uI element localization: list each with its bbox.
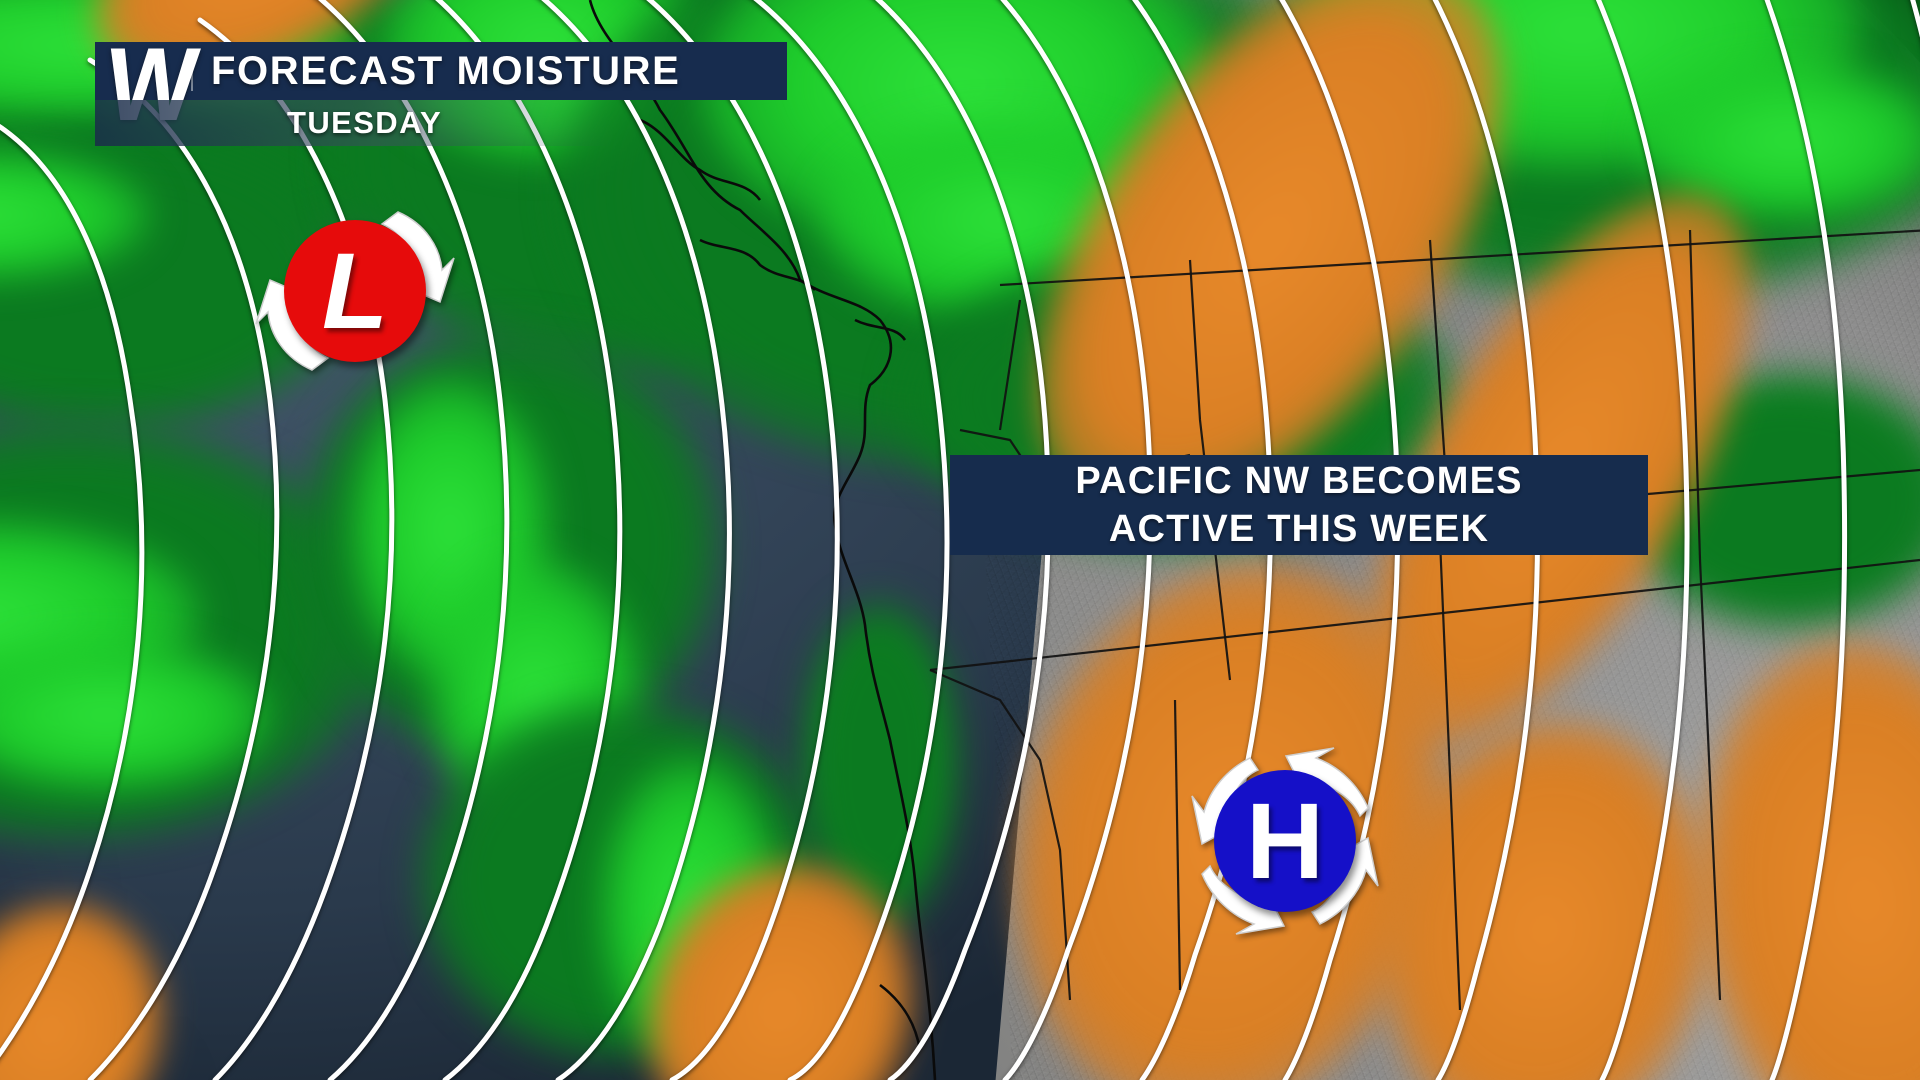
subtitle-bar: TUESDAY xyxy=(95,100,615,146)
high-pressure-glyph: H xyxy=(1246,787,1324,895)
headline-line-2: ACTIVE THIS WEEK xyxy=(1109,505,1489,553)
page-title: FORECAST MOISTURE xyxy=(211,49,680,94)
headline-line-1: PACIFIC NW BECOMES xyxy=(1075,457,1522,505)
low-pressure-glyph: L xyxy=(322,237,388,345)
low-pressure-center: L xyxy=(262,198,448,384)
forecast-day-label: TUESDAY xyxy=(287,105,442,141)
logo-slot: W xyxy=(95,42,191,100)
high-pressure-disc: H xyxy=(1214,770,1356,912)
low-pressure-disc: L xyxy=(284,220,426,362)
headline-banner: PACIFIC NW BECOMES ACTIVE THIS WEEK xyxy=(950,455,1648,555)
high-pressure-center: H xyxy=(1192,748,1378,934)
title-bar: W FORECAST MOISTURE xyxy=(95,42,787,100)
weather-broadcast-graphic: W FORECAST MOISTURE TUESDAY L H PACIFIC … xyxy=(0,0,1920,1080)
